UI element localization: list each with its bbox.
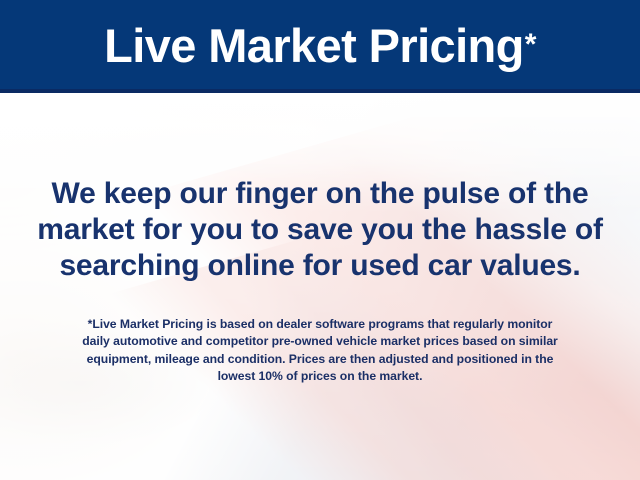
headline-line-1: We keep our finger on the pulse of the xyxy=(0,176,640,212)
page-title-text: Live Market Pricing xyxy=(104,22,524,69)
headline-line-3: searching online for used car values. xyxy=(0,248,640,284)
page-title-asterisk: * xyxy=(525,30,536,60)
headline-line-2: market for you to save you the hassle of xyxy=(0,212,640,248)
background-photo xyxy=(0,93,640,480)
live-market-pricing-banner: Live Market Pricing* We keep our finger … xyxy=(0,0,640,480)
disclaimer-line-2: daily automotive and competitor pre-owne… xyxy=(0,333,640,350)
headline: We keep our finger on the pulse of the m… xyxy=(0,176,640,284)
disclaimer-line-3: equipment, mileage and condition. Prices… xyxy=(0,351,640,368)
disclaimer-text: *Live Market Pricing is based on dealer … xyxy=(0,316,640,385)
disclaimer-line-4: lowest 10% of prices on the market. xyxy=(0,368,640,385)
disclaimer-line-1: *Live Market Pricing is based on dealer … xyxy=(0,316,640,333)
page-title: Live Market Pricing* xyxy=(0,0,640,92)
